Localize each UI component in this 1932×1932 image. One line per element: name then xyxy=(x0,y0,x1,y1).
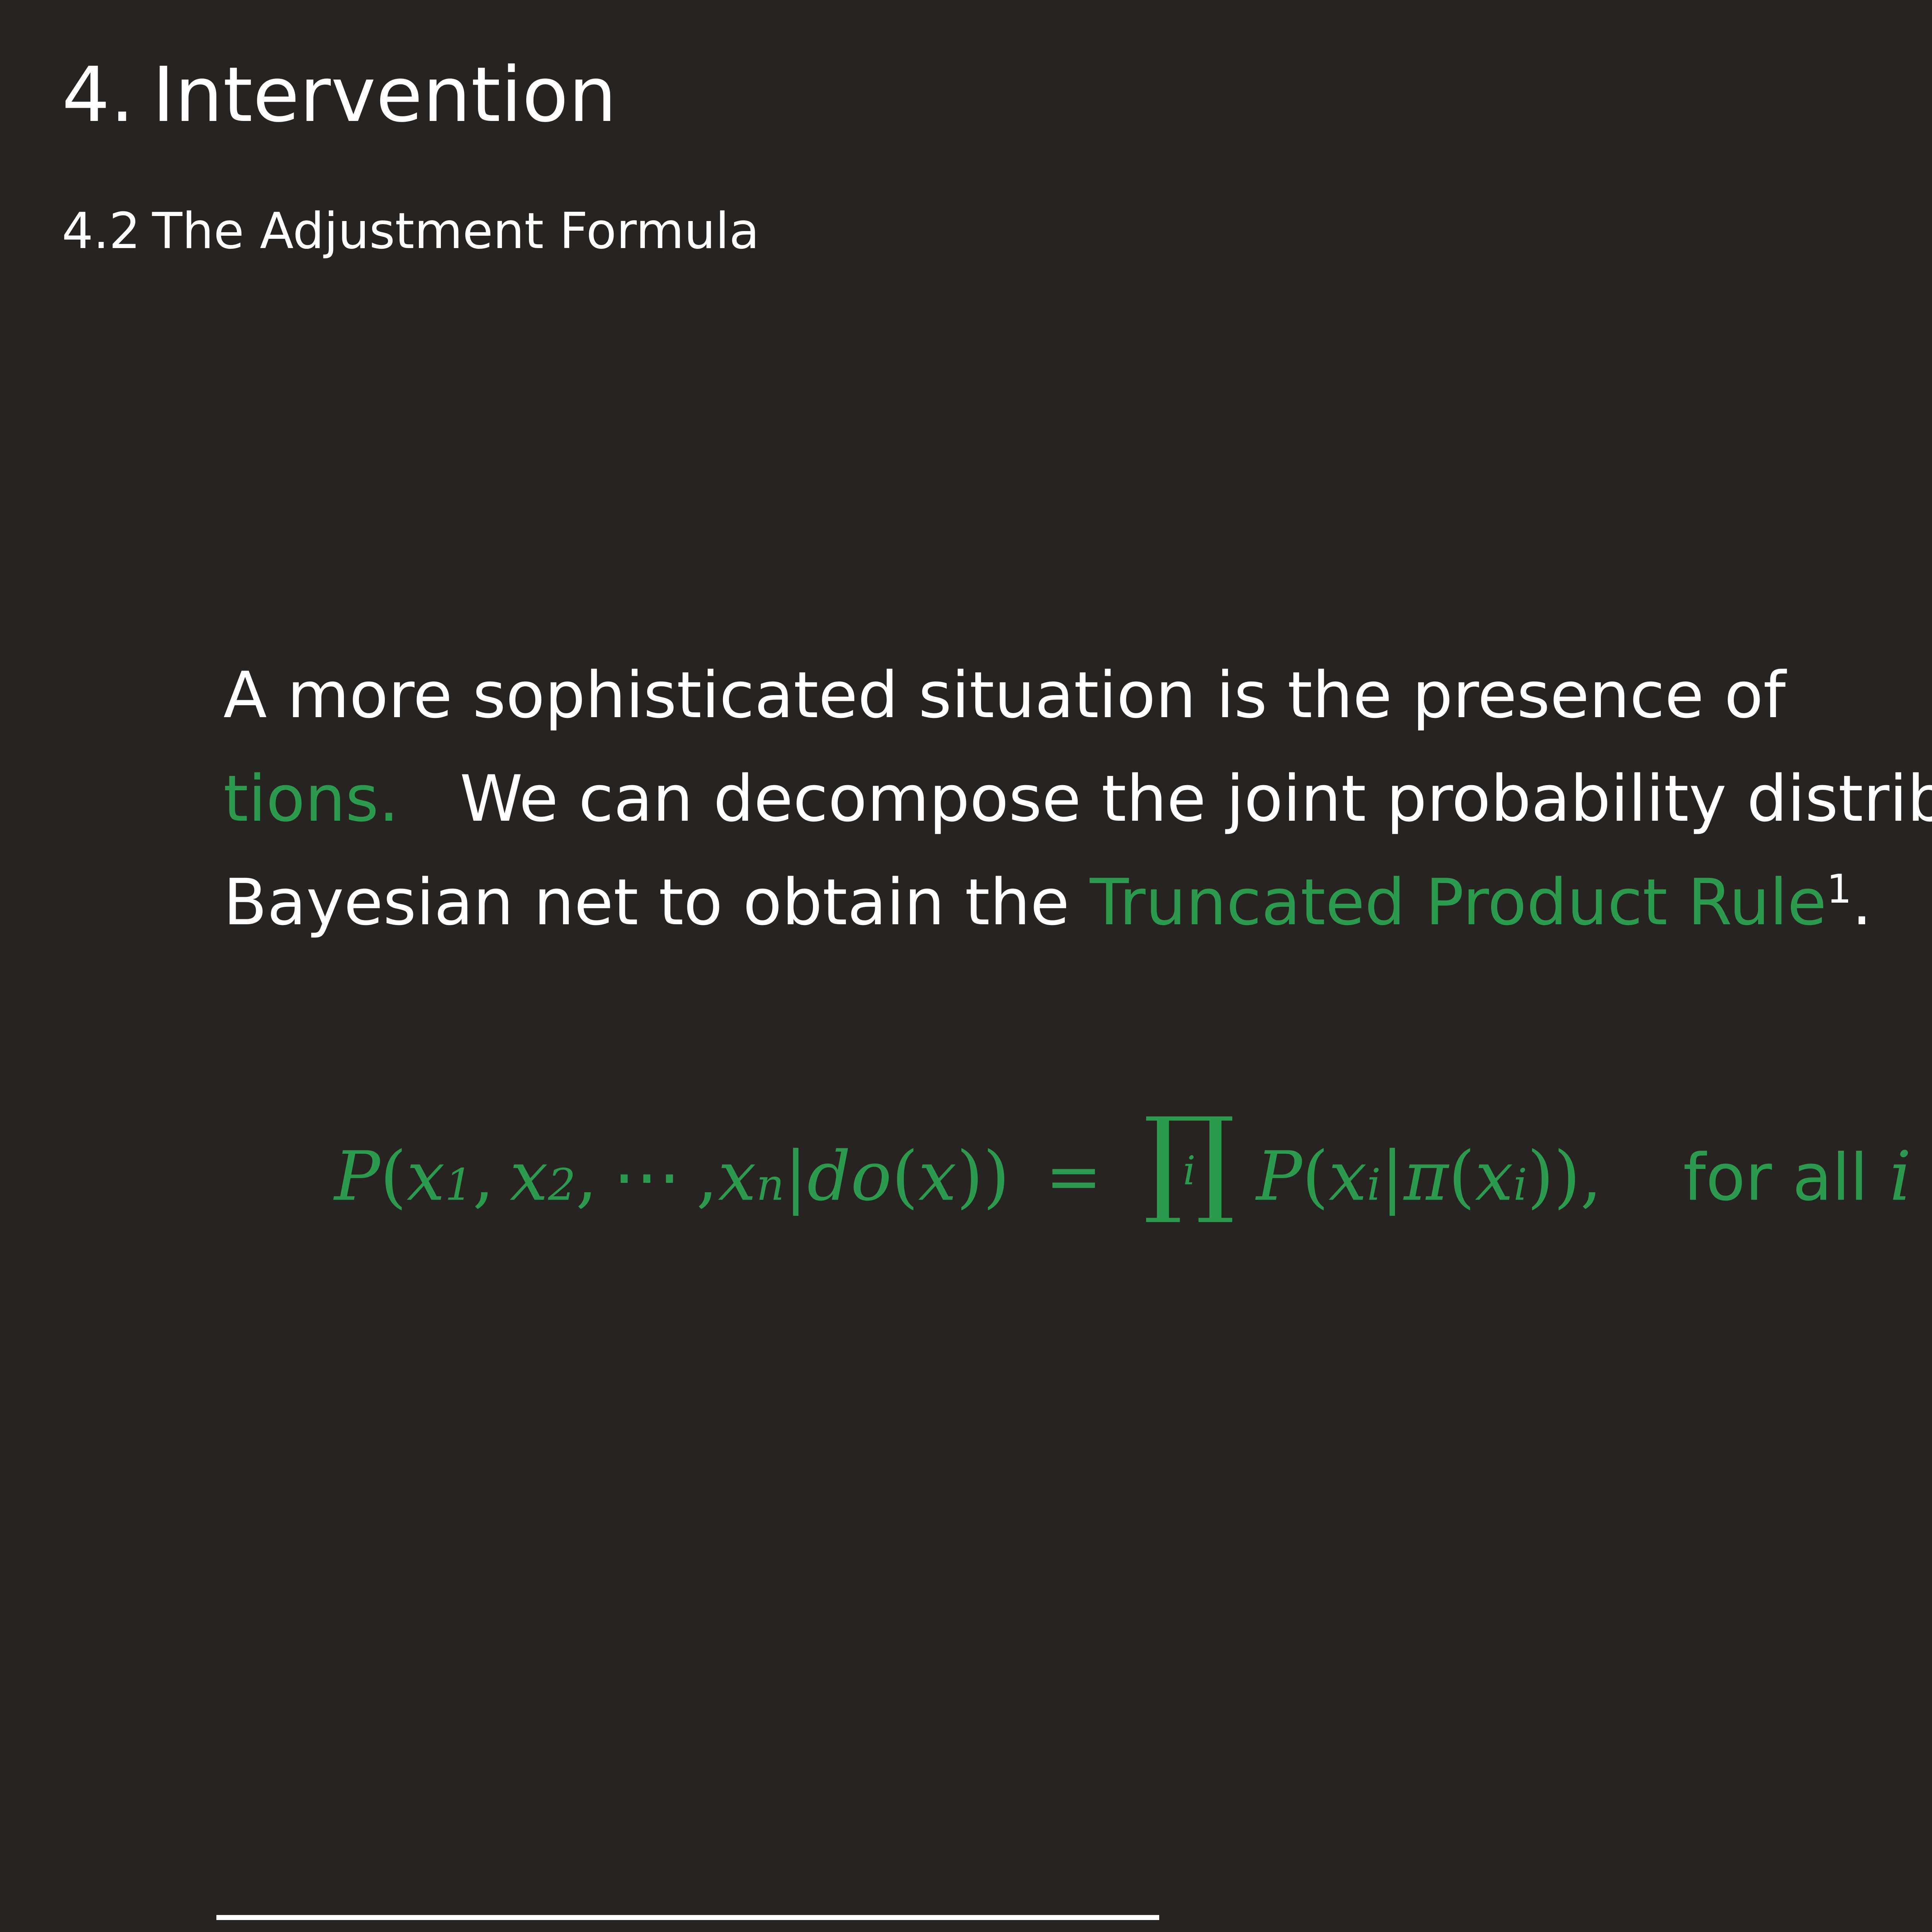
formula-pi-x: x xyxy=(1475,1137,1513,1216)
formula-mid-2: | xyxy=(1381,1137,1404,1216)
line3-text-a: Bayesian net to obtain the xyxy=(223,865,1090,939)
paragraph-line-3: Bayesian net to obtain the Truncated Pro… xyxy=(223,850,1932,954)
formula-comma: , xyxy=(1580,1137,1602,1216)
formula-do-arg: x xyxy=(918,1137,956,1216)
formula-do: do xyxy=(807,1137,892,1216)
formula-x1: x xyxy=(406,1137,445,1216)
formula-equals: = xyxy=(1045,1137,1102,1216)
formula-rhs-x: x xyxy=(1328,1137,1367,1216)
formula-dots: ⋯ xyxy=(613,1137,681,1216)
line3-text-c: . xyxy=(1852,865,1872,939)
paragraph-line-1: A more sophisticated situation is the pr… xyxy=(223,643,1932,747)
line2-text-b: We can decompose the joint probability d… xyxy=(460,762,1932,836)
formula-pi: π xyxy=(1404,1137,1449,1216)
formula-cond-prefix: for all xyxy=(1683,1140,1868,1215)
paragraph-line-2: tions. We can decompose the joint probab… xyxy=(223,747,1932,850)
line1-text-a: A more sophisticated situation is the pr… xyxy=(223,643,1786,747)
formula-cond-i: i xyxy=(1889,1137,1911,1216)
line3-text-b-highlight: Truncated Product Rule xyxy=(1090,865,1827,939)
subsection-number: 4.2 xyxy=(62,202,141,260)
subsection-title: The Adjustment Formula xyxy=(152,202,760,260)
footnote-marker-inline: 1 xyxy=(1827,866,1852,912)
section-number: 4. xyxy=(62,51,134,139)
page-subtitle: 4.2The Adjustment Formula xyxy=(62,207,759,256)
formula-mid-1: | xyxy=(784,1137,807,1216)
page-title: 4.Intervention xyxy=(62,57,617,133)
body-paragraph: A more sophisticated situation is the pr… xyxy=(223,643,1932,954)
formula-x2: x xyxy=(510,1137,548,1216)
section-title: Intervention xyxy=(152,51,617,139)
formula-xn: x xyxy=(718,1137,756,1216)
product-operator: ∏i xyxy=(1143,1115,1235,1205)
line2-text-a-highlight: tions. xyxy=(223,762,399,836)
slide-canvas: 4.Intervention 4.2The Adjustment Formula… xyxy=(0,0,1932,1932)
truncated-product-rule-formula: P(x1,x2,⋯,xn|do(x))=∏iP(xi|π(xi)),for al… xyxy=(0,1115,1932,1216)
product-index: i xyxy=(1183,1156,1196,1187)
formula-lhs-P: P xyxy=(334,1137,380,1216)
footnote-rule xyxy=(216,1915,1159,1920)
formula-rhs-P: P xyxy=(1256,1137,1302,1216)
formula-inner: P(x1,x2,⋯,xn|do(x))=∏iP(xi|π(xi)),for al… xyxy=(334,1115,1932,1216)
